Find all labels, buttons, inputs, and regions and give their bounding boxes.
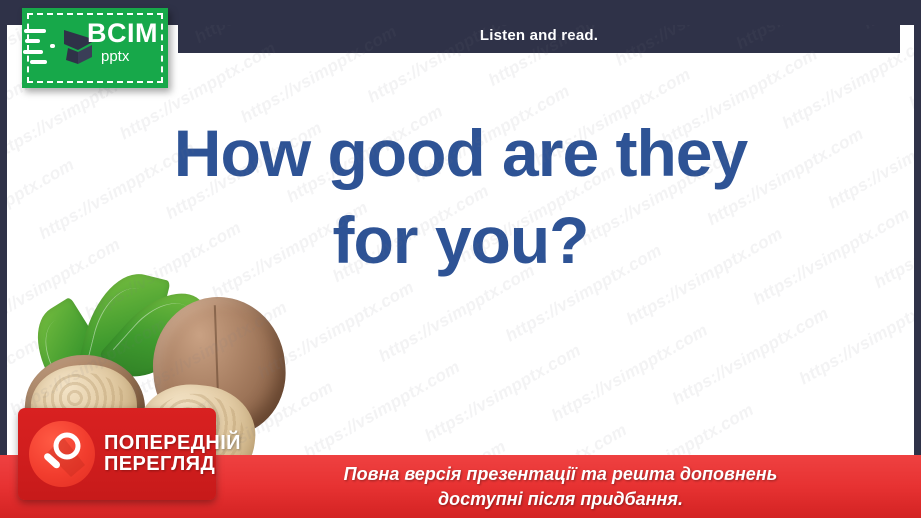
title-line-2: for you? — [7, 197, 914, 284]
preview-badge-text: ПОПЕРЕДНІЙ ПЕРЕГЛЯД — [104, 433, 241, 475]
purchase-notice-line-2: доступні після придбання. — [344, 487, 778, 511]
logo-text-block: BCIM pptx — [87, 20, 158, 64]
slide-header-bar: Listen and read. — [178, 17, 900, 53]
speed-line-icon — [24, 29, 46, 33]
watermark-text: https://vsimpptx.com — [301, 357, 464, 463]
speed-line-icon — [30, 60, 47, 64]
magnifier-glyph — [41, 431, 85, 477]
watermark-text: https://vsimpptx.com — [422, 341, 585, 447]
speed-line-icon — [25, 39, 40, 43]
watermark-text: https://vsimpptx.com — [548, 321, 711, 427]
speed-dot-icon — [50, 44, 55, 48]
slide-title: How good are they for you? — [7, 110, 914, 284]
speed-line-icon — [23, 50, 43, 54]
bcim-logo[interactable]: BCIM pptx — [22, 8, 168, 88]
preview-badge-line-2: ПЕРЕГЛЯД — [104, 454, 241, 475]
watermark-text: https://vsimpptx.com — [669, 304, 832, 410]
logo-subtitle: pptx — [101, 49, 158, 64]
title-line-1: How good are they — [7, 110, 914, 197]
watermark-text: https://vsimpptx.com — [796, 284, 914, 390]
preview-badge-line-1: ПОПЕРЕДНІЙ — [104, 433, 241, 454]
header-title-text: Listen and read. — [480, 27, 598, 44]
logo-name: BCIM — [87, 20, 158, 47]
magnifier-icon — [29, 421, 95, 487]
watermark-text: https://vsimpptx.com — [906, 25, 914, 114]
purchase-notice-line-1: Повна версія презентації та решта доповн… — [344, 462, 778, 486]
preview-badge[interactable]: ПОПЕРЕДНІЙ ПЕРЕГЛЯД — [18, 408, 216, 500]
